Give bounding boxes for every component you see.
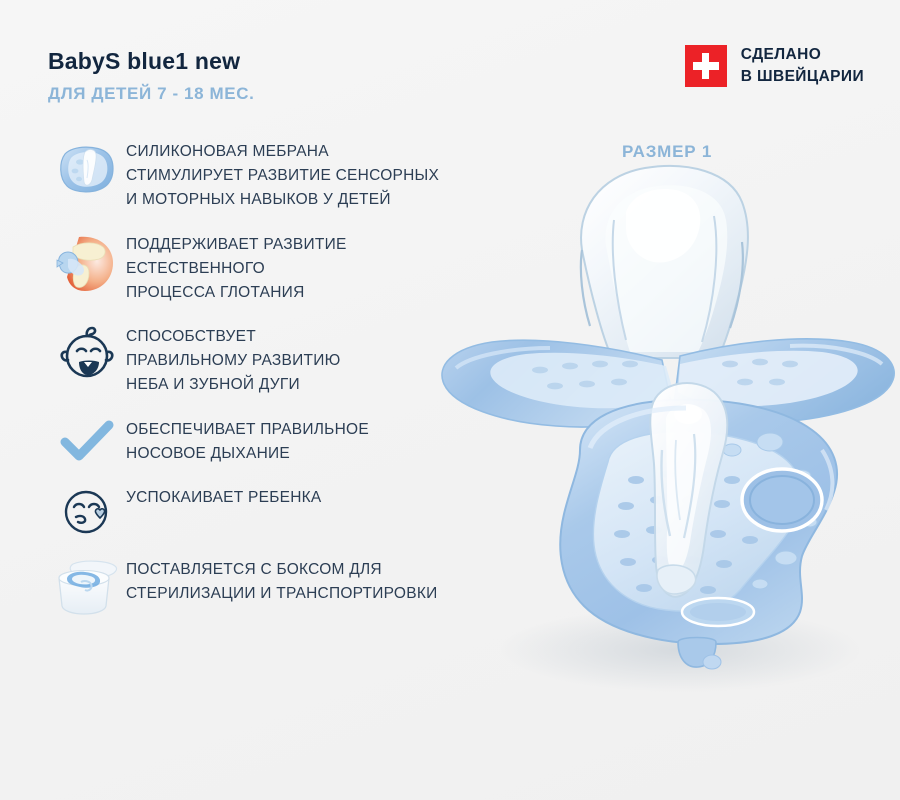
- feature-text: СПОСОБСТВУЕТ ПРАВИЛЬНОМУ РАЗВИТИЮ НЕБА И…: [126, 323, 341, 398]
- swiss-badge-line1: СДЕЛАНО: [741, 44, 864, 66]
- page-title: BabyS blue1 new: [48, 48, 254, 75]
- pacifier-product-photo: [430, 150, 900, 710]
- swiss-badge-line2: В ШВЕЙЦАРИИ: [741, 66, 864, 88]
- feature-text: УСПОКАИВАЕТ РЕБЕНКА: [126, 484, 322, 510]
- swiss-cross-icon: [685, 45, 727, 87]
- feature-text: ПОДДЕРЖИВАЕТ РАЗВИТИЕ ЕСТЕСТВЕННОГО ПРОЦ…: [126, 231, 347, 306]
- feature-text: ПОСТАВЛЯЕТСЯ С БОКСОМ ДЛЯ СТЕРИЛИЗАЦИИ И…: [126, 556, 437, 606]
- checkmark-icon: [48, 416, 126, 466]
- title-block: BabyS blue1 new ДЛЯ ДЕТЕЙ 7 - 18 МЕС.: [48, 48, 254, 104]
- baby-face-icon: [48, 323, 126, 383]
- age-range-label: ДЛЯ ДЕТЕЙ 7 - 18 МЕС.: [48, 84, 254, 104]
- made-in-switzerland-badge: СДЕЛАНО В ШВЕЙЦАРИИ: [685, 44, 864, 88]
- mouth-anatomy-icon: [48, 231, 126, 295]
- feature-text: ОБЕСПЕЧИВАЕТ ПРАВИЛЬНОЕ НОСОВОЕ ДЫХАНИЕ: [126, 416, 369, 466]
- infographic-page: BabyS blue1 new ДЛЯ ДЕТЕЙ 7 - 18 МЕС. СД…: [0, 0, 900, 800]
- kissing-face-icon: [48, 484, 126, 538]
- pacifier-icon: [48, 138, 126, 198]
- sterilization-box-icon: [48, 556, 126, 616]
- swiss-badge-text: СДЕЛАНО В ШВЕЙЦАРИИ: [741, 44, 864, 88]
- feature-text: СИЛИКОНОВАЯ МЕБРАНА СТИМУЛИРУЕТ РАЗВИТИЕ…: [126, 138, 439, 213]
